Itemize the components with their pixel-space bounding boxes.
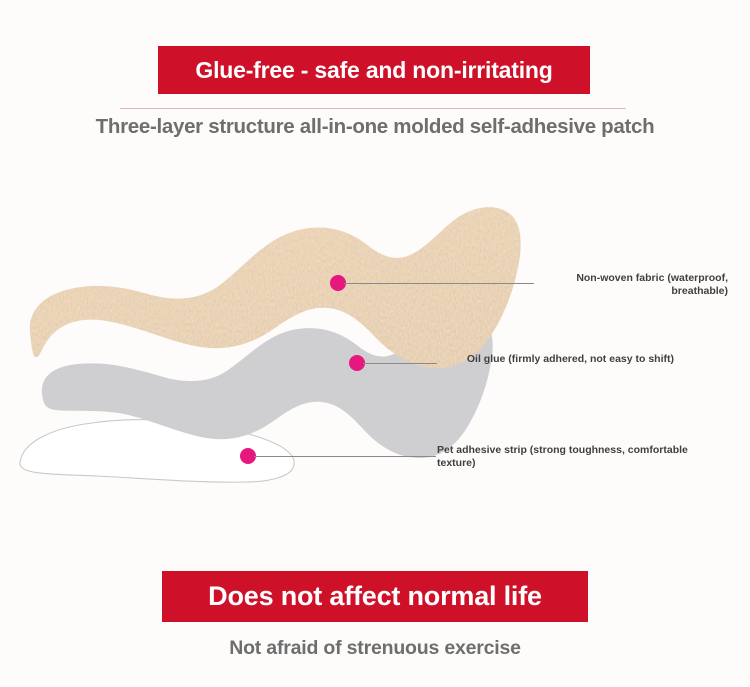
callout-leader-oil-glue — [363, 363, 437, 364]
top-subtitle-text: Three-layer structure all-in-one molded … — [0, 115, 750, 139]
bottom-subtitle-text: Not afraid of strenuous exercise — [0, 637, 750, 660]
top-headline-banner: Glue-free - safe and non-irritating — [158, 46, 590, 94]
callout-label-pet-adhesive-strip: Pet adhesive strip (strong toughness, co… — [437, 444, 717, 470]
bottom-headline-text: Does not affect normal life — [208, 581, 542, 612]
callout-leader-non-woven-fabric — [344, 283, 534, 284]
callout-label-non-woven-fabric: Non-woven fabric (waterproof, breathable… — [548, 272, 728, 298]
callout-label-oil-glue: Oil glue (firmly adhered, not easy to sh… — [440, 353, 674, 366]
bottom-headline-banner: Does not affect normal life — [162, 571, 588, 622]
product-infographic: Glue-free - safe and non-irritating Thre… — [0, 0, 750, 687]
headline-divider-rule — [120, 108, 626, 109]
callout-leader-pet-adhesive-strip — [254, 456, 436, 457]
top-headline-text: Glue-free - safe and non-irritating — [195, 57, 552, 84]
